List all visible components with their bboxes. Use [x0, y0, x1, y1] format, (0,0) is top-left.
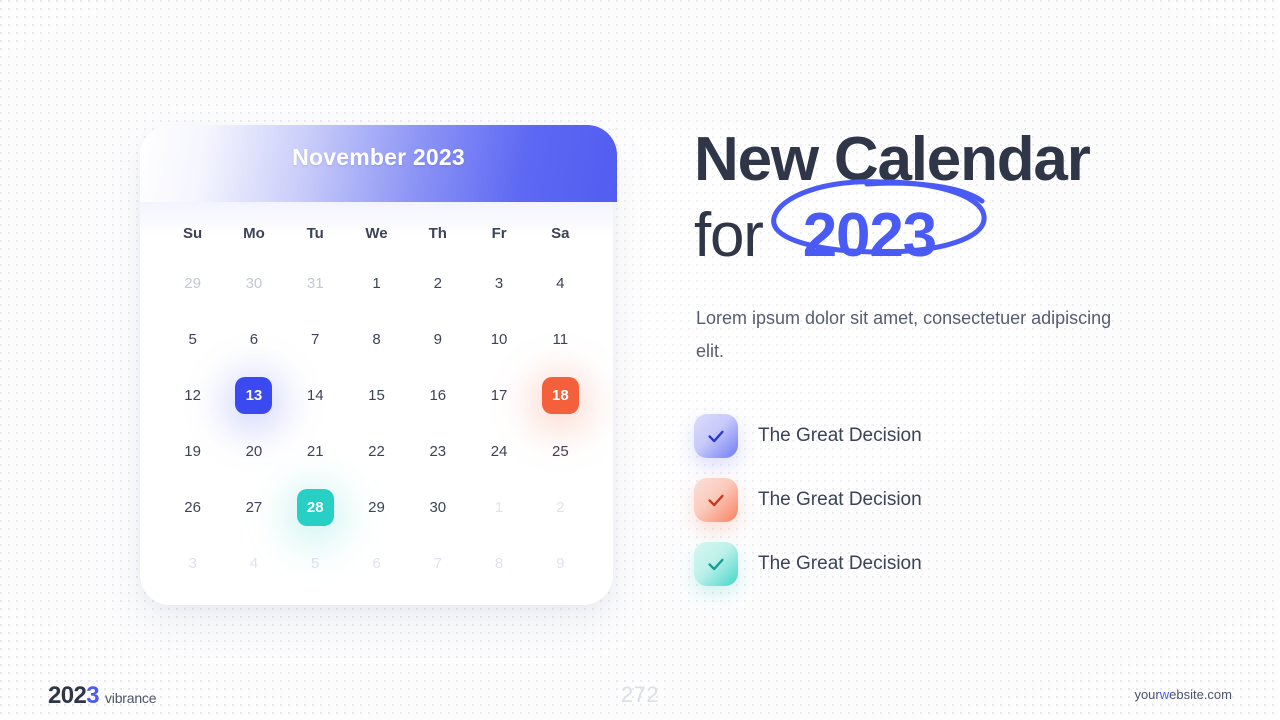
calendar-day-cell[interactable]: 10 [468, 311, 529, 367]
calendar-day-selected-28[interactable]: 28 [297, 489, 334, 526]
headline-for-label: for [694, 198, 763, 274]
calendar-day-cell[interactable]: 1 [346, 255, 407, 311]
website-accent-letter: w [1160, 687, 1169, 702]
calendar-day-cell[interactable]: 6 [346, 535, 407, 591]
calendar-week-row: 19202122232425 [162, 423, 591, 479]
calendar-day-cell[interactable]: 16 [407, 367, 468, 423]
calendar-weekday-row: SuMoTuWeThFrSa [162, 211, 591, 255]
calendar-week-row: 567891011 [162, 311, 591, 367]
calendar-header: November 2023 [140, 125, 617, 202]
calendar-week-row: 2930311234 [162, 255, 591, 311]
calendar-day-cell[interactable]: 19 [162, 423, 223, 479]
calendar-day-cell[interactable]: 6 [223, 311, 284, 367]
highlighted-year: 2023 [769, 198, 970, 274]
calendar-day-cell[interactable]: 21 [285, 423, 346, 479]
checklist-item-label: The Great Decision [758, 489, 922, 511]
calendar-day-cell[interactable]: 29 [162, 255, 223, 311]
calendar-day-cell[interactable]: 7 [285, 311, 346, 367]
calendar-day-cell[interactable]: 8 [346, 311, 407, 367]
calendar-day-cell[interactable]: 22 [346, 423, 407, 479]
checkbox-red[interactable] [694, 478, 738, 522]
check-icon [705, 489, 727, 511]
calendar-week-rows: 2930311234567891011121314151617181920212… [162, 255, 591, 591]
checklist-item-label: The Great Decision [758, 553, 922, 575]
calendar-day-cell[interactable]: 11 [530, 311, 591, 367]
calendar-week-row: 12131415161718 [162, 367, 591, 423]
calendar-day-cell[interactable]: 9 [530, 535, 591, 591]
calendar-weekday-th: Th [407, 211, 468, 255]
checklist-item[interactable]: The Great Decision [694, 404, 1214, 468]
calendar-day-cell[interactable]: 17 [468, 367, 529, 423]
checklist-item[interactable]: The Great Decision [694, 532, 1214, 596]
calendar-day-selected-18[interactable]: 18 [542, 377, 579, 414]
calendar-weekday-fr: Fr [468, 211, 529, 255]
calendar-day-cell[interactable]: 1 [468, 479, 529, 535]
calendar-day-cell[interactable]: 8 [468, 535, 529, 591]
calendar-day-cell[interactable]: 5 [285, 535, 346, 591]
calendar-day-cell[interactable]: 3 [162, 535, 223, 591]
checkbox-blue[interactable] [694, 414, 738, 458]
calendar-day-cell[interactable]: 12 [162, 367, 223, 423]
calendar-weekday-sa: Sa [530, 211, 591, 255]
calendar-day-cell[interactable]: 3 [468, 255, 529, 311]
calendar-day-cell[interactable]: 20 [223, 423, 284, 479]
calendar-day-cell[interactable]: 4 [223, 535, 284, 591]
calendar-day-cell[interactable]: 25 [530, 423, 591, 479]
page-number: 272 [0, 682, 1280, 708]
year-label: 2023 [803, 201, 936, 270]
calendar-day-cell[interactable]: 13 [223, 367, 284, 423]
calendar-day-selected-13[interactable]: 13 [235, 377, 272, 414]
calendar-card: November 2023 SuMoTuWeThFrSa 29303112345… [140, 125, 613, 605]
calendar-day-cell[interactable]: 18 [530, 367, 591, 423]
calendar-day-cell[interactable]: 5 [162, 311, 223, 367]
website-suffix: ebsite.com [1169, 687, 1232, 702]
calendar-week-row: 3456789 [162, 535, 591, 591]
calendar-day-cell[interactable]: 31 [285, 255, 346, 311]
check-icon [705, 425, 727, 447]
calendar-weekday-mo: Mo [223, 211, 284, 255]
calendar-day-cell[interactable]: 7 [407, 535, 468, 591]
calendar-grid: SuMoTuWeThFrSa 2930311234567891011121314… [162, 211, 591, 591]
calendar-day-cell[interactable]: 26 [162, 479, 223, 535]
calendar-month-title: November 2023 [140, 144, 617, 171]
calendar-day-cell[interactable]: 15 [346, 367, 407, 423]
calendar-day-cell[interactable]: 2 [407, 255, 468, 311]
checklist: The Great DecisionThe Great DecisionThe … [694, 404, 1214, 596]
calendar-week-row: 262728293012 [162, 479, 591, 535]
website-prefix: your [1134, 687, 1159, 702]
checkbox-teal[interactable] [694, 542, 738, 586]
calendar-day-cell[interactable]: 23 [407, 423, 468, 479]
checklist-item-label: The Great Decision [758, 425, 922, 447]
calendar-weekday-tu: Tu [285, 211, 346, 255]
calendar-day-cell[interactable]: 9 [407, 311, 468, 367]
page-title-line-two: for 2023 [694, 198, 1214, 274]
calendar-day-cell[interactable]: 2 [530, 479, 591, 535]
website-link[interactable]: yourwebsite.com [1134, 687, 1232, 702]
subtitle-text: Lorem ipsum dolor sit amet, consectetuer… [696, 302, 1136, 368]
slide-background: November 2023 SuMoTuWeThFrSa 29303112345… [0, 0, 1280, 720]
calendar-weekday-we: We [346, 211, 407, 255]
content-column: New Calendar for 2023 Lorem ipsum dolor … [694, 122, 1214, 596]
check-icon [705, 553, 727, 575]
calendar-day-cell[interactable]: 14 [285, 367, 346, 423]
calendar-day-cell[interactable]: 29 [346, 479, 407, 535]
calendar-day-cell[interactable]: 28 [285, 479, 346, 535]
calendar-day-cell[interactable]: 4 [530, 255, 591, 311]
calendar-day-cell[interactable]: 27 [223, 479, 284, 535]
calendar-weekday-su: Su [162, 211, 223, 255]
checklist-item[interactable]: The Great Decision [694, 468, 1214, 532]
calendar-day-cell[interactable]: 24 [468, 423, 529, 479]
calendar-day-cell[interactable]: 30 [223, 255, 284, 311]
calendar-day-cell[interactable]: 30 [407, 479, 468, 535]
